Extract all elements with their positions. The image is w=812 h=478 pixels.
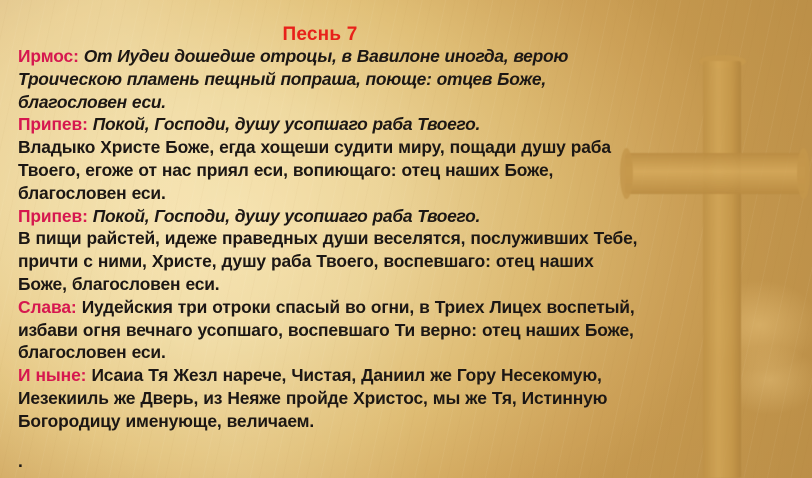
page-title: Песнь 7 [0, 24, 640, 46]
verse-text-pripev-2: Покой, Господи, душу усопшаго раба Твоег… [93, 206, 480, 226]
verse-text-pripev-1: Покой, Господи, душу усопшаго раба Твоег… [93, 114, 480, 134]
verse-slava: Слава: Иудейския три отроки спасый во ог… [18, 296, 646, 364]
verse-text-body-2: В пищи райстей, идеже праведных души вес… [18, 228, 637, 294]
verse-pripev-2: Припев: Покой, Господи, душу усопшаго ра… [18, 205, 646, 228]
verse-text-slava: Иудейския три отроки спасый во огни, в Т… [18, 297, 635, 363]
verse-body-1: Владыко Христе Боже, егда хощеши судити … [18, 136, 646, 204]
slide-canvas: Песнь 7 Ирмос: От Иудеи дошедше отроцы, … [0, 0, 812, 478]
verse-label-pripev-2: Припев: [18, 206, 88, 226]
verse-label-i-nyne: И ныне: [18, 365, 86, 385]
verse-irmos: Ирмос: От Иудеи дошедше отроцы, в Вавило… [18, 45, 646, 113]
verse-list: Ирмос: От Иудеи дошедше отроцы, в Вавило… [18, 45, 646, 478]
verse-label-pripev-1: Припев: [18, 114, 88, 134]
verse-text-body-1: Владыко Христе Боже, егда хощеши судити … [18, 137, 611, 203]
verse-i-nyne: И ныне: Исаиа Тя Жезл нарече, Чистая, Да… [18, 364, 646, 432]
verse-label-irmos: Ирмос: [18, 46, 79, 66]
verse-label-slava: Слава: [18, 297, 77, 317]
verse-text-irmos: От Иудеи дошедше отроцы, в Вавилоне иног… [18, 46, 568, 112]
slide-content: Песнь 7 Ирмос: От Иудеи дошедше отроцы, … [0, 0, 812, 478]
verse-body-2: В пищи райстей, идеже праведных души вес… [18, 227, 646, 295]
verse-text-i-nyne: Исаиа Тя Жезл нарече, Чистая, Даниил же … [18, 365, 607, 431]
trailing-period: . [18, 450, 646, 472]
verse-pripev-1: Припев: Покой, Господи, душу усопшаго ра… [18, 113, 646, 136]
